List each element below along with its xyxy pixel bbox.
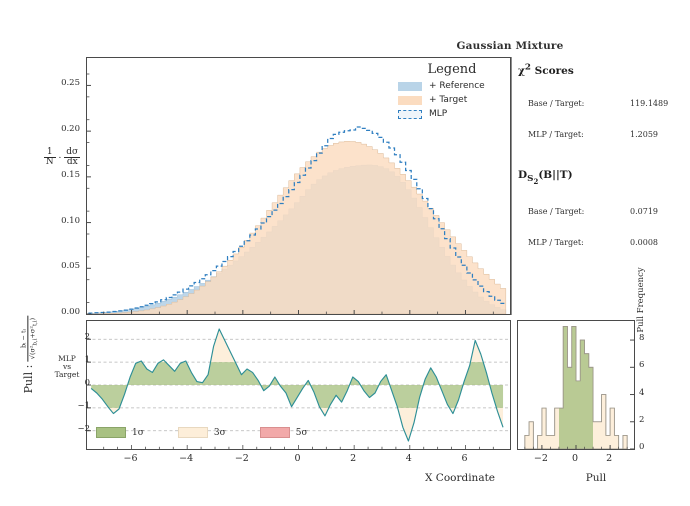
chi2-heading: χ2 Scores [518,62,686,77]
pull-x-tick-label: −6 [118,453,144,464]
y-label-dot: · [59,153,62,163]
chi2-mlp-target-value: 1.2059 [630,130,686,139]
main-y-tick-label: 0.00 [38,307,80,317]
sigma-legend-item-3sigma[interactable]: 3σ [178,427,226,438]
pull-formula-numerator: bᵢ − tᵢ [19,316,27,361]
chi2-base-target-key: Base / Target: [528,99,584,108]
chi2-symbol: χ2 Scores [518,65,574,77]
pull-x-tick-label: 2 [340,453,366,464]
legend-item-reference[interactable]: + Reference [398,80,506,92]
main-y-tick-label: 0.05 [38,261,80,271]
sigma-legend: 1σ 3σ 5σ [96,427,338,438]
pull-formula-fraction: bᵢ − tᵢ √(σ²b,i+σ²t,i) [19,316,38,361]
y-label-dsigma-dx: dσ dx [64,148,80,168]
figure-title: Gaussian Mixture [430,40,590,52]
sigma-legend-item-5sigma[interactable]: 5σ [260,427,308,438]
pull-ylabel-line3: Target [52,371,82,379]
sigma1-label: 1σ [132,428,144,438]
pull-x-tick-label: 6 [451,453,477,464]
pull-histogram-y-tick-label: 4 [639,388,644,398]
sigma-legend-item-1sigma[interactable]: 1σ [96,427,144,438]
divergence-base-target-key: Base / Target: [528,207,584,216]
pull-frequency-axis-label: Pull Frequency [636,255,646,345]
chi2-row-mlp-target: MLP / Target: 1.2059 [518,130,686,139]
pull-histogram-x-tick-label: −2 [529,453,553,464]
legend-title: Legend [398,62,506,77]
chi2-row-base-target: Base / Target: 119.1489 [518,99,686,108]
main-y-tick-label: 0.10 [38,216,80,226]
pull-y-tick-label: 0 [48,378,90,388]
pull-x-tick-label: 4 [396,453,422,464]
divergence-row-mlp-target: MLP / Target: 0.0008 [518,238,686,247]
pull-label-text: Pull : [22,365,35,394]
legend: Legend + Reference + Target MLP [398,62,506,122]
pull-histogram-axes [517,320,635,450]
pull-formula-denominator: √(σ²b,i+σ²t,i) [27,316,38,361]
legend-swatch-mlp [398,110,422,119]
divergence-base-target-value: 0.0719 [630,207,686,216]
pull-histogram-x-tick-label: 0 [563,453,587,464]
sigma1-swatch [96,427,126,438]
divergence-symbol: DS2(B||T) [518,169,573,181]
stats-panel: χ2 Scores Base / Target: 119.1489 MLP / … [518,62,686,247]
chi2-base-target-value: 119.1489 [630,99,686,108]
pull-histogram-y-tick-label: 2 [639,415,644,425]
y-label-1-over-N: 1 N [44,148,56,168]
figure-root: Gaussian Mixture 0.250.200.150.100.050.0… [0,0,690,506]
pull-y-axis-label: MLP vs Target [52,355,82,379]
pull-y-tick-label: −1 [48,401,90,411]
legend-label-reference: + Reference [429,81,485,91]
pull-axis-title: Pull [556,472,636,484]
pull-histogram-area [518,321,634,449]
legend-label-mlp: MLP [429,109,447,119]
legend-item-mlp[interactable]: MLP [398,108,506,120]
sigma3-label: 3σ [214,428,226,438]
chi2-mlp-target-key: MLP / Target: [528,130,584,139]
pull-histogram-y-tick-label: 6 [639,360,644,370]
sigma5-swatch [260,427,290,438]
divergence-row-base-target: Base / Target: 0.0719 [518,207,686,216]
x-axis-title: X Coordinate [400,472,520,484]
legend-swatch-target [398,96,422,105]
pull-formula-label: Pull : bᵢ − tᵢ √(σ²b,i+σ²t,i) [19,300,38,410]
main-y-axis-label: 1 N · dσ dx [42,148,82,168]
pull-y-tick-label: 2 [48,332,90,342]
stats-divider [511,57,512,315]
legend-item-target[interactable]: + Target [398,94,506,106]
pull-y-tick-label: −2 [48,424,90,434]
sigma3-swatch [178,427,208,438]
main-y-tick-label: 0.20 [38,124,80,134]
divergence-mlp-target-key: MLP / Target: [528,238,584,247]
main-y-tick-label: 0.25 [38,78,80,88]
pull-x-tick-label: −4 [173,453,199,464]
pull-histogram-y-tick-label: 0 [639,442,644,452]
pull-x-tick-label: −2 [229,453,255,464]
divergence-heading: DS2(B||T) [518,169,686,186]
divergence-mlp-target-value: 0.0008 [630,238,686,247]
pull-histogram-x-tick-label: 2 [597,453,621,464]
pull-x-tick-label: 0 [285,453,311,464]
sigma5-label: 5σ [296,428,308,438]
legend-label-target: + Target [429,95,467,105]
legend-swatch-reference [398,82,422,91]
main-y-tick-label: 0.15 [38,170,80,180]
